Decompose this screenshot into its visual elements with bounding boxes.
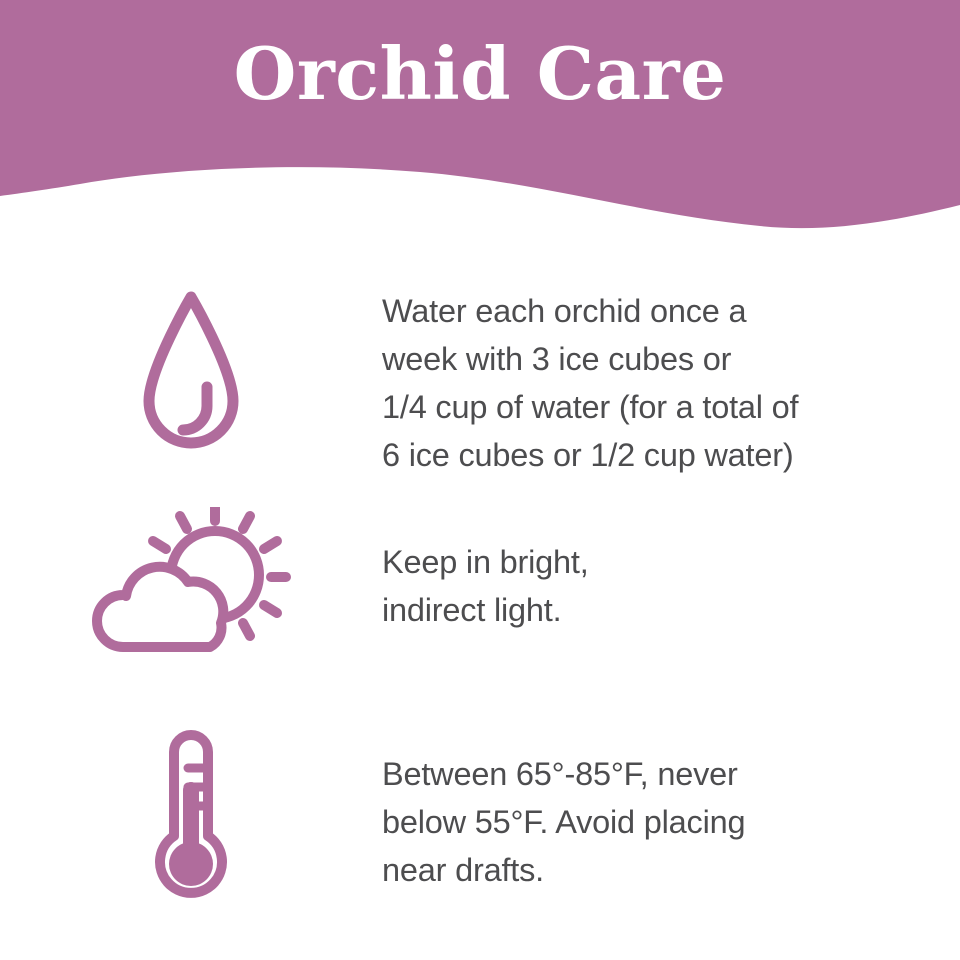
light-text-cell: Keep in bright, indirect light.: [382, 505, 960, 634]
sun-cloud-icon-cell: [0, 505, 382, 667]
cloud-shape: [97, 567, 223, 647]
care-row-light: Keep in bright, indirect light.: [0, 505, 960, 667]
care-row-watering: Water each orchid once a week with 3 ice…: [0, 283, 960, 479]
mercury-bulb: [169, 842, 213, 886]
care-row-temperature: Between 65°-85°F, never below 55°F. Avoi…: [0, 722, 960, 908]
thermometer-icon: [136, 728, 246, 908]
water-drop-icon-cell: [0, 283, 382, 468]
light-text: Keep in bright, indirect light.: [382, 538, 924, 634]
watering-text: Water each orchid once a week with 3 ice…: [382, 287, 924, 479]
orchid-care-infographic: Orchid Care Water each orchid once a wee…: [0, 0, 960, 960]
temperature-text-cell: Between 65°-85°F, never below 55°F. Avoi…: [382, 722, 960, 894]
page-title: Orchid Care: [0, 38, 960, 110]
temperature-text: Between 65°-85°F, never below 55°F. Avoi…: [382, 750, 924, 894]
water-drop-icon: [131, 283, 251, 468]
sun-behind-cloud-icon: [91, 507, 291, 667]
watering-text-cell: Water each orchid once a week with 3 ice…: [382, 283, 960, 479]
mercury-column: [183, 782, 199, 846]
thermometer-icon-cell: [0, 722, 382, 908]
header-banner: Orchid Care: [0, 0, 960, 240]
